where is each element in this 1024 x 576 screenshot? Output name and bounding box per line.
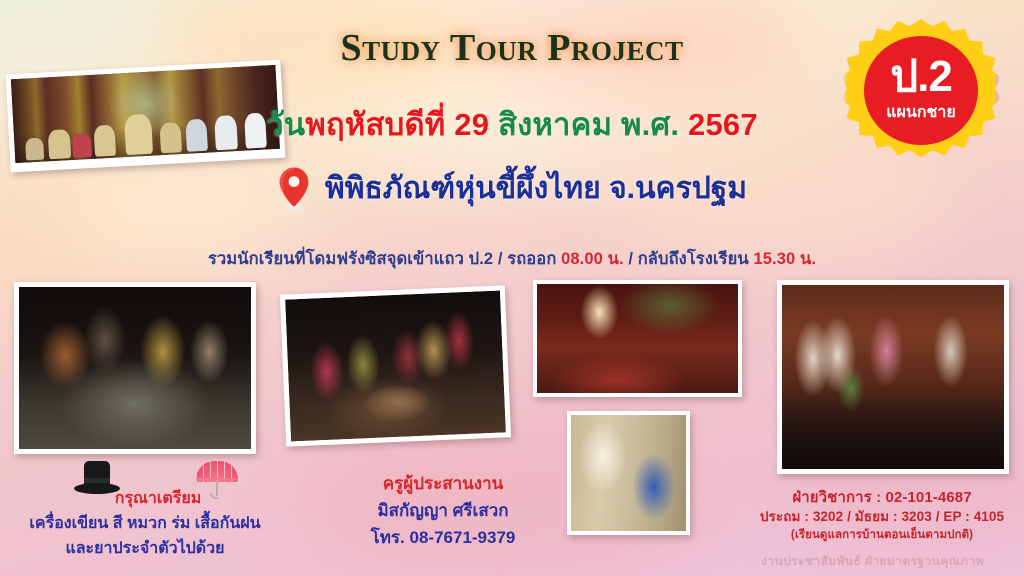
- academic-contact-block: ฝ่ายวิชาการ : 02-101-4687 ประถม : 3202 /…: [744, 487, 1020, 543]
- badge-department-label: แผนกชาย: [886, 100, 956, 125]
- teacher-name: มิสกัญญา ศรีเสวก: [336, 497, 550, 524]
- teacher-role: ครูผู้ประสานงาน: [336, 470, 550, 497]
- date-year: 2567: [688, 107, 758, 142]
- prepare-items-block: กรุณาเตรียม เครื่องเขียน สี หมวก ร่ม เสื…: [14, 487, 276, 561]
- prepare-heading: กรุณาเตรียม: [40, 487, 276, 512]
- date-era: พ.ศ.: [621, 107, 688, 142]
- publisher-watermark: งานประชาสัมพันธ์ ฝ่ายมาตรฐานคุณภาพ|||: [761, 552, 1006, 571]
- date-month: สิงหาคม: [489, 107, 621, 142]
- contact-extensions: ประถม : 3202 / มัธยม : 3203 / EP : 4105: [744, 508, 1020, 527]
- date-prefix: วัน: [266, 107, 305, 142]
- grade-badge: ป.2 แผนกชาย: [846, 19, 996, 162]
- prepare-items-line-2: และยาประจำตัวไปด้วย: [14, 537, 276, 562]
- photo-seated-figures: [567, 411, 690, 535]
- meet-separator-2: /: [624, 250, 638, 268]
- contact-phone: ฝ่ายวิชาการ : 02-101-4687: [744, 487, 1020, 508]
- meet-separator-1: /: [493, 250, 507, 268]
- map-pin-icon: [277, 166, 311, 212]
- photo-throne-scene: [533, 280, 742, 397]
- meeting-details: รวมนักเรียนที่โดมฟรังซิสจุดเข้าแถว ป.2 /…: [0, 246, 1024, 272]
- photo-theatre-scene-1: [14, 282, 256, 454]
- return-time: 15.30 น.: [753, 250, 816, 268]
- date-day: พฤหัสบดีที่ 29: [305, 107, 489, 142]
- photo-children-piggyback: [777, 280, 1009, 474]
- depart-label: รถออก: [507, 250, 561, 268]
- watermark-text: งานประชาสัมพันธ์ ฝ่ายมาตรฐานคุณภาพ: [761, 554, 984, 568]
- badge-grade-label: ป.2: [890, 56, 952, 98]
- venue-row: พิพิธภัณฑ์หุ่นขี้ผึ้งไทย จ.นครปฐม: [0, 165, 1024, 212]
- venue-name: พิพิธภัณฑ์หุ่นขี้ผึ้งไทย จ.นครปฐม: [325, 165, 747, 212]
- contact-note: (เรียนดูแลการบ้านตอนเย็นตามปกติ): [744, 527, 1020, 543]
- return-label: กลับถึงโรงเรียน: [638, 250, 754, 268]
- meet-point: รวมนักเรียนที่โดมฟรังซิสจุดเข้าแถว ป.2: [208, 250, 493, 268]
- watermark-bars: |||: [990, 554, 1006, 568]
- depart-time: 08.00 น.: [561, 250, 624, 268]
- teacher-phone: โทร. 08-7671-9379: [336, 524, 550, 551]
- prepare-items-line-1: เครื่องเขียน สี หมวก ร่ม เสื้อกันฝน: [14, 512, 276, 537]
- coordinating-teacher-block: ครูผู้ประสานงาน มิสกัญญา ศรีเสวก โทร. 08…: [336, 470, 550, 552]
- photo-theatre-scene-2: [280, 285, 511, 446]
